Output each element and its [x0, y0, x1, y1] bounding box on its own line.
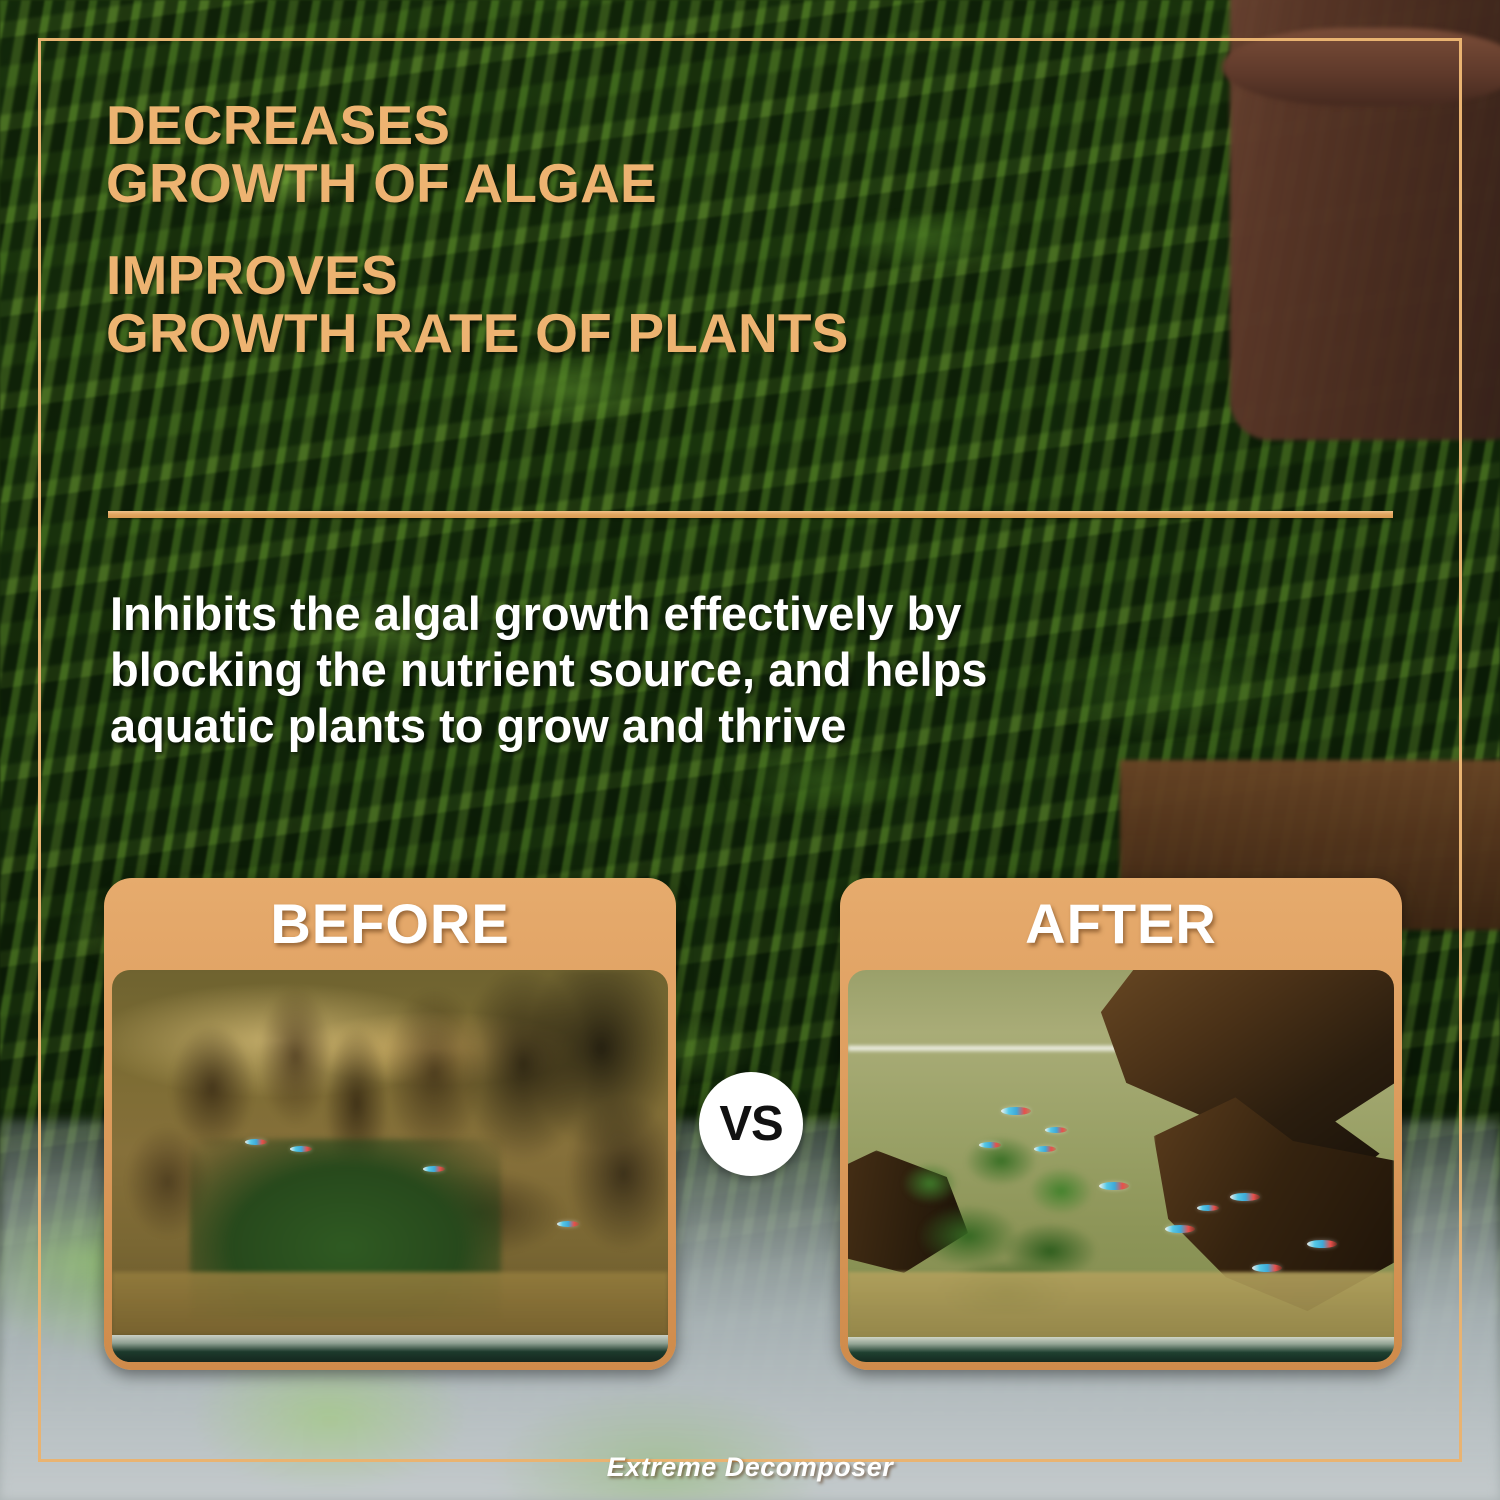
fish-icon [1045, 1127, 1067, 1133]
before-substrate [112, 1272, 668, 1335]
body-line-3: aquatic plants to grow and thrive [110, 698, 1340, 754]
footer-brand-bar: Extreme Decomposer [0, 1434, 1500, 1500]
headline-group-algae: DECREASES GROWTH OF ALGAE [106, 96, 1326, 212]
product-infographic-poster: DECREASES GROWTH OF ALGAE IMPROVES GROWT… [0, 0, 1500, 1500]
body-line-1: Inhibits the algal growth effectively by [110, 586, 1340, 642]
after-tank-rim [848, 1337, 1394, 1362]
headline-line-2: GROWTH OF ALGAE [106, 154, 1326, 212]
headline-group-plants: IMPROVES GROWTH RATE OF PLANTS [106, 246, 1326, 362]
before-panel: BEFORE [104, 878, 676, 1370]
after-panel-title: AFTER [848, 878, 1394, 970]
body-paragraph: Inhibits the algal growth effectively by… [110, 586, 1340, 754]
fish-icon [1252, 1264, 1282, 1272]
fish-icon [245, 1139, 267, 1145]
headline-block: DECREASES GROWTH OF ALGAE IMPROVES GROWT… [106, 96, 1326, 362]
fish-icon [1099, 1182, 1129, 1190]
fish-icon [1165, 1225, 1195, 1233]
headline-line-1: DECREASES [106, 96, 1326, 154]
headline-line-4: GROWTH RATE OF PLANTS [106, 304, 1326, 362]
fish-icon [557, 1221, 579, 1227]
after-panel: AFTER [840, 878, 1402, 1370]
footer-brand-name: Extreme Decomposer [607, 1452, 894, 1483]
before-tank-rim [112, 1335, 668, 1362]
gold-divider-rule [108, 511, 1393, 518]
body-line-2: blocking the nutrient source, and helps [110, 642, 1340, 698]
after-substrate [848, 1272, 1394, 1339]
before-panel-title: BEFORE [112, 878, 668, 970]
headline-spacer [106, 212, 1326, 246]
vs-badge: VS [699, 1072, 803, 1176]
before-aquarium-photo [112, 970, 668, 1362]
after-aquarium-photo [848, 970, 1394, 1362]
terracotta-pot-rim [1222, 28, 1500, 106]
headline-line-3: IMPROVES [106, 246, 1326, 304]
